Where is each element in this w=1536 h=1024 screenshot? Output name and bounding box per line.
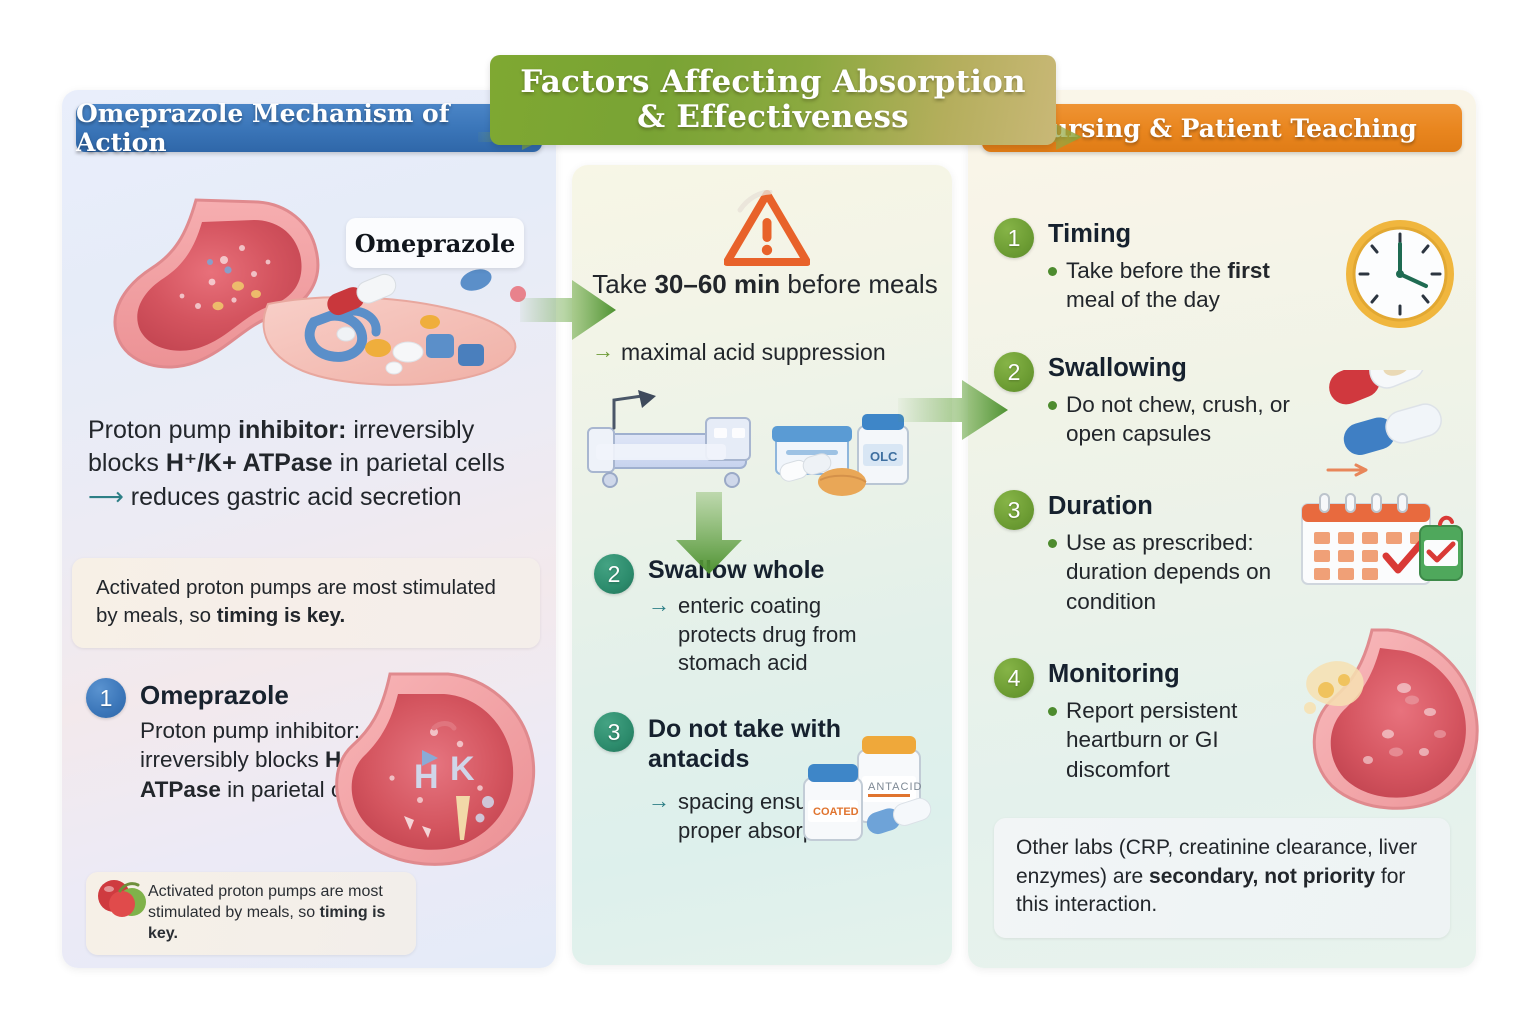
item-title: Timing: [1048, 220, 1131, 249]
right-panel-callout: Other labs (CRP, creatinine clearance, l…: [994, 818, 1450, 938]
item-number-badge: 2: [594, 554, 634, 594]
rp1-t2: meal of the day: [1066, 287, 1220, 312]
middle-panel-subline: → maximal acid suppression: [592, 338, 944, 367]
left-panel-callout-top: Activated proton pumps are most stimulat…: [72, 558, 540, 648]
svg-text:COATED: COATED: [813, 806, 859, 818]
infographic-canvas: Factors Affecting Absorption & Effective…: [0, 0, 1536, 1024]
hospital-bed-and-medication-illustration: OLC: [580, 388, 925, 508]
bullet-dot-icon: [1048, 707, 1057, 716]
middle-panel-headline: Take 30–60 min before meals: [590, 268, 940, 301]
main-title-banner: Factors Affecting Absorption & Effective…: [490, 55, 1056, 145]
lp-para-1: Proton pump: [88, 416, 238, 444]
item-title: Omeprazole: [140, 680, 289, 711]
clock-icon: [1330, 214, 1470, 334]
item-bullet: Report persistent heartburn or GI discom…: [1048, 696, 1290, 784]
item-bullet: Take before the first meal of the day: [1048, 256, 1314, 315]
bullet-dot-icon: [1048, 539, 1057, 548]
left-panel-paragraph: Proton pump inhibitor: irreversibly bloc…: [88, 414, 518, 514]
item-number-badge: 1: [86, 678, 126, 718]
item-title: Swallowing: [1048, 354, 1187, 383]
rp1-bold: first: [1227, 258, 1270, 283]
mp-head-2: before meals: [780, 269, 938, 299]
item-bullet: Use as prescribed: duration depends on c…: [1048, 528, 1298, 616]
right-arrow-icon: →: [648, 788, 670, 814]
left-panel-header: Omeprazole Mechanism of Action: [76, 104, 542, 152]
rp3-text: Use as prescribed: duration depends on c…: [1066, 528, 1298, 616]
item-number-badge: 3: [994, 490, 1034, 530]
item-body: → enteric coating protects drug from sto…: [648, 592, 894, 678]
connector-arrow-middle-to-right: [898, 372, 1010, 448]
main-title-line1: Factors Affecting Absorption: [520, 64, 1026, 100]
lp-callout1-bold: timing is key.: [217, 604, 345, 627]
capsules-icon: [1316, 370, 1476, 485]
warning-triangle-icon: [724, 190, 810, 268]
apples-illustration: [94, 872, 156, 920]
item-number-badge: 3: [594, 712, 634, 752]
mp-item2-text: enteric coating protects drug from stoma…: [678, 592, 894, 678]
rp-callout-bold1: secondary,: [1149, 865, 1258, 888]
rp4-text: Report persistent heartburn or GI discom…: [1066, 696, 1290, 784]
stomach-icon: [1300, 628, 1480, 813]
right-arrow-icon: →: [648, 592, 670, 618]
lp-para-bold-2: H⁺/K+ ATPase: [166, 449, 333, 477]
calendar-icon: [1290, 490, 1470, 605]
svg-text:ANTACID: ANTACID: [868, 781, 922, 793]
svg-text:K: K: [450, 750, 475, 788]
mp-sub-text: maximal acid suppression: [621, 338, 886, 367]
connector-arrow-left-to-middle: [520, 272, 618, 348]
rp1-t1: Take before the: [1066, 258, 1227, 283]
item-number-badge: 4: [994, 658, 1034, 698]
bullet-dot-icon: [1048, 401, 1057, 410]
omeprazole-label-chip: Omeprazole: [346, 218, 524, 268]
main-title-line2: & Effectiveness: [637, 99, 909, 135]
item-title: Duration: [1048, 492, 1153, 521]
rp-callout-bold2: not priority: [1264, 865, 1375, 888]
lp-para-arrow-icon: ⟶: [88, 483, 124, 511]
svg-text:OLC: OLC: [870, 449, 898, 464]
lp-para-3: in parietal cells: [333, 449, 505, 477]
stomach-hk-atpase-illustration: H K: [330, 668, 548, 898]
bullet-dot-icon: [1048, 267, 1057, 276]
rp2-text: Do not chew, crush, or open capsules: [1066, 390, 1314, 449]
lp-para-bold-1: inhibitor:: [238, 416, 346, 444]
item-title: Monitoring: [1048, 660, 1180, 689]
antacid-bottles-illustration: ANTACID COATED: [790, 724, 940, 854]
connector-arrow-down: [672, 492, 746, 576]
item-number-badge: 1: [994, 218, 1034, 258]
mp-head-bold: 30–60 min: [654, 269, 780, 299]
item-bullet: Do not chew, crush, or open capsules: [1048, 390, 1314, 449]
lp-para-4: reduces gastric acid secretion: [124, 483, 462, 511]
